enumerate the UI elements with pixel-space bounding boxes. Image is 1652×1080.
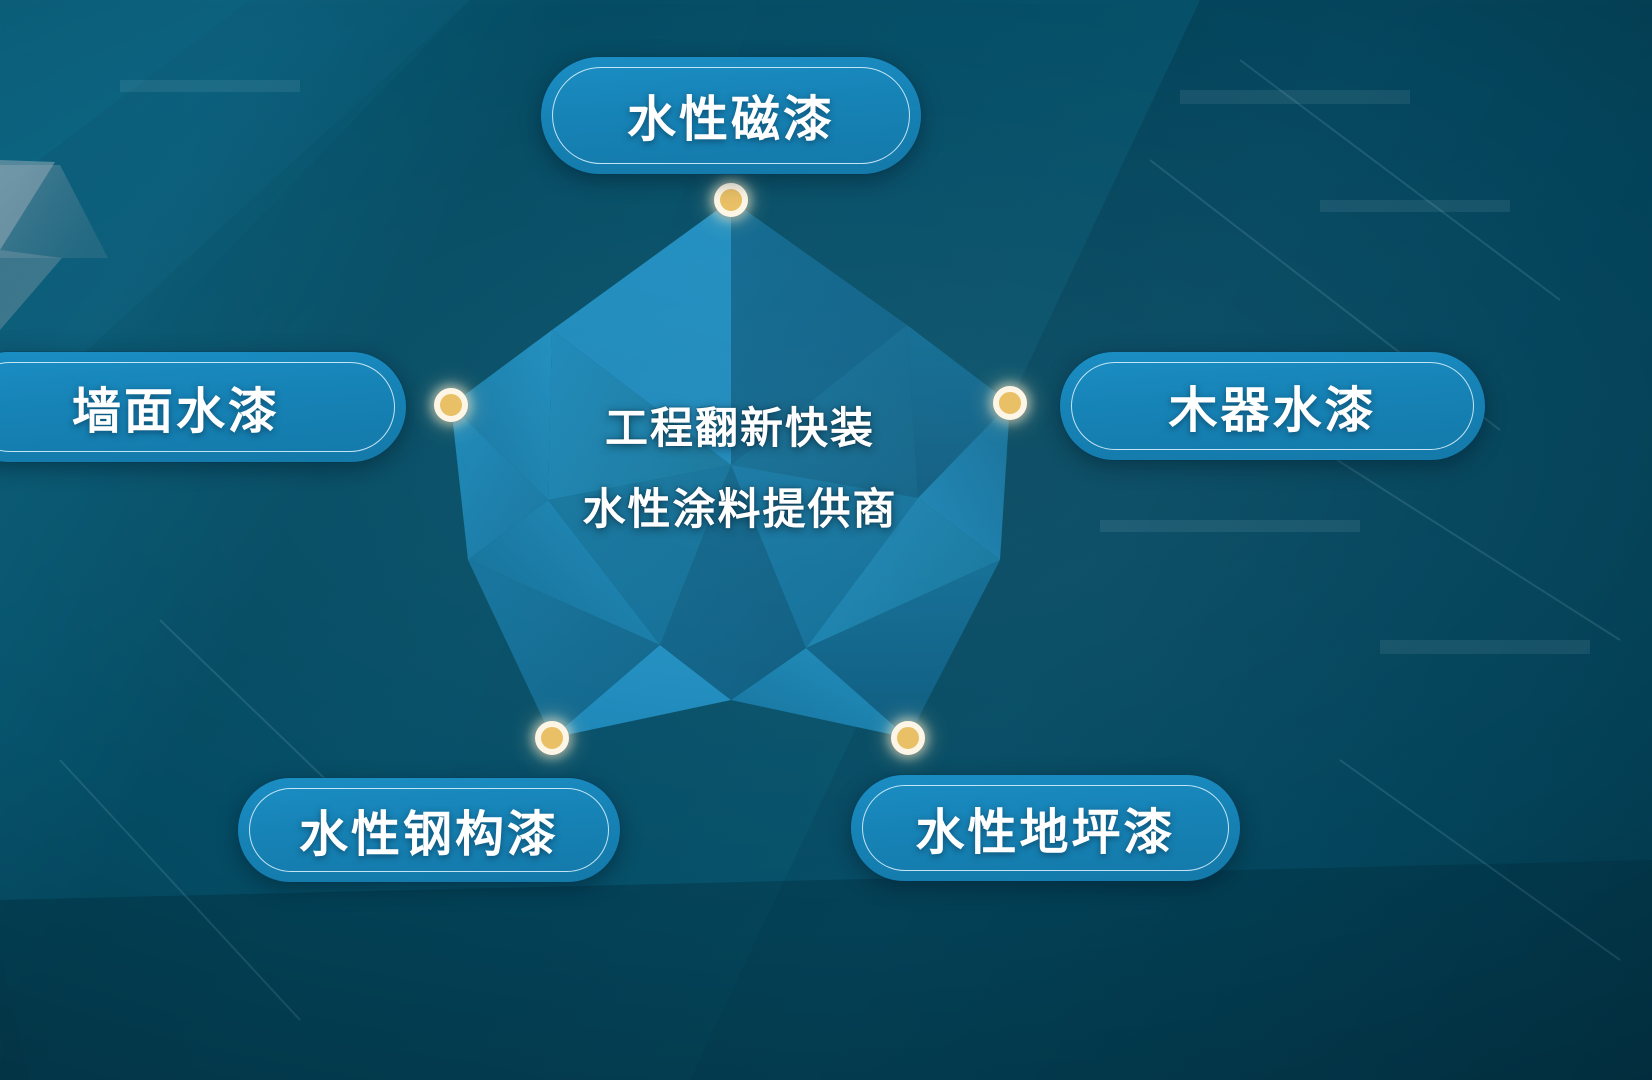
category-pill-bottom-right-label: 水性地坪漆 xyxy=(915,793,1175,864)
node-dot-icon-bottom-right xyxy=(891,721,925,755)
category-pill-left-label: 墙面水漆 xyxy=(72,372,288,443)
infographic-poster: 工程翻新快装 水性涂料提供商 水性磁漆 木器水漆 水性地坪漆 水性钢构漆 墙面水… xyxy=(0,0,1652,1080)
category-pill-bottom-left[interactable]: 水性钢构漆 xyxy=(238,778,620,882)
category-pill-left[interactable]: 墙面水漆 xyxy=(0,352,406,462)
category-pill-bottom-left-label: 水性钢构漆 xyxy=(299,795,559,866)
category-pill-right-label: 木器水漆 xyxy=(1168,371,1376,442)
node-dot-icon-right xyxy=(993,386,1027,420)
category-pill-top-label: 水性磁漆 xyxy=(627,80,835,151)
node-dot-icon-left xyxy=(434,388,468,422)
node-dot-icon-top xyxy=(714,183,748,217)
category-pill-top[interactable]: 水性磁漆 xyxy=(541,57,921,174)
node-dot-icon-bottom-left xyxy=(535,721,569,755)
category-pill-right[interactable]: 木器水漆 xyxy=(1060,352,1485,460)
category-pill-bottom-right[interactable]: 水性地坪漆 xyxy=(851,775,1240,881)
